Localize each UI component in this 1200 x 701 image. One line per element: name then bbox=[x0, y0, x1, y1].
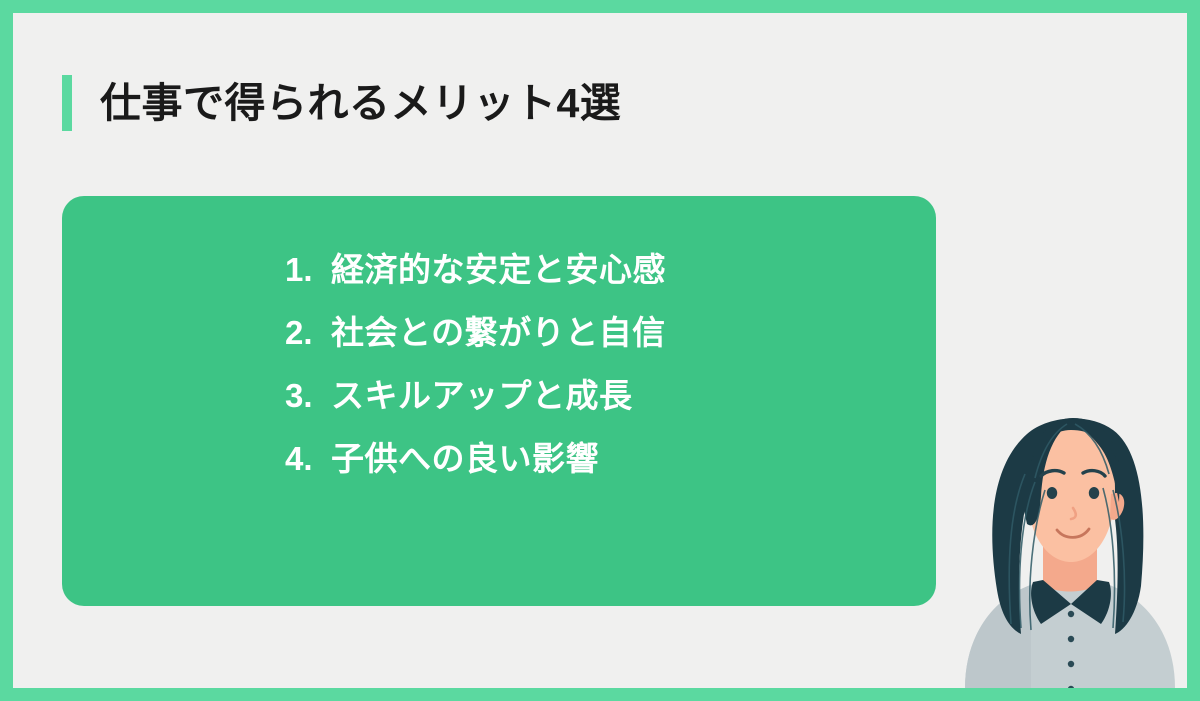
list-item: 3. スキルアップと成長 bbox=[285, 378, 666, 415]
list-item: 2. 社会との繋がりと自信 bbox=[285, 315, 666, 352]
list-item-label: 経済的な安定と安心感 bbox=[331, 252, 666, 289]
list-item-label: 子供への良い影響 bbox=[331, 441, 599, 478]
list-item: 4. 子供への良い影響 bbox=[285, 441, 666, 478]
page-title: 仕事で得られるメリット4選 bbox=[62, 73, 621, 133]
benefits-list: 1. 経済的な安定と安心感 2. 社会との繋がりと自信 3. スキルアップと成長… bbox=[285, 252, 666, 478]
slide-canvas: 仕事で得られるメリット4選 1. 経済的な安定と安心感 2. 社会との繋がりと自… bbox=[13, 13, 1187, 688]
list-item: 1. 経済的な安定と安心感 bbox=[285, 252, 666, 289]
title-accent-bar bbox=[62, 75, 72, 131]
list-item-number: 4. bbox=[285, 441, 331, 478]
list-item-label: スキルアップと成長 bbox=[331, 378, 633, 415]
list-item-label: 社会との繋がりと自信 bbox=[331, 315, 666, 352]
slide-frame: 仕事で得られるメリット4選 1. 経済的な安定と安心感 2. 社会との繋がりと自… bbox=[0, 0, 1200, 701]
smiling-woman-portrait-illustration bbox=[947, 378, 1187, 688]
title-text: 仕事で得られるメリット4選 bbox=[100, 83, 621, 124]
list-item-number: 3. bbox=[285, 378, 331, 415]
list-item-number: 2. bbox=[285, 315, 331, 352]
benefits-card: 1. 経済的な安定と安心感 2. 社会との繋がりと自信 3. スキルアップと成長… bbox=[62, 196, 936, 606]
list-item-number: 1. bbox=[285, 252, 331, 289]
